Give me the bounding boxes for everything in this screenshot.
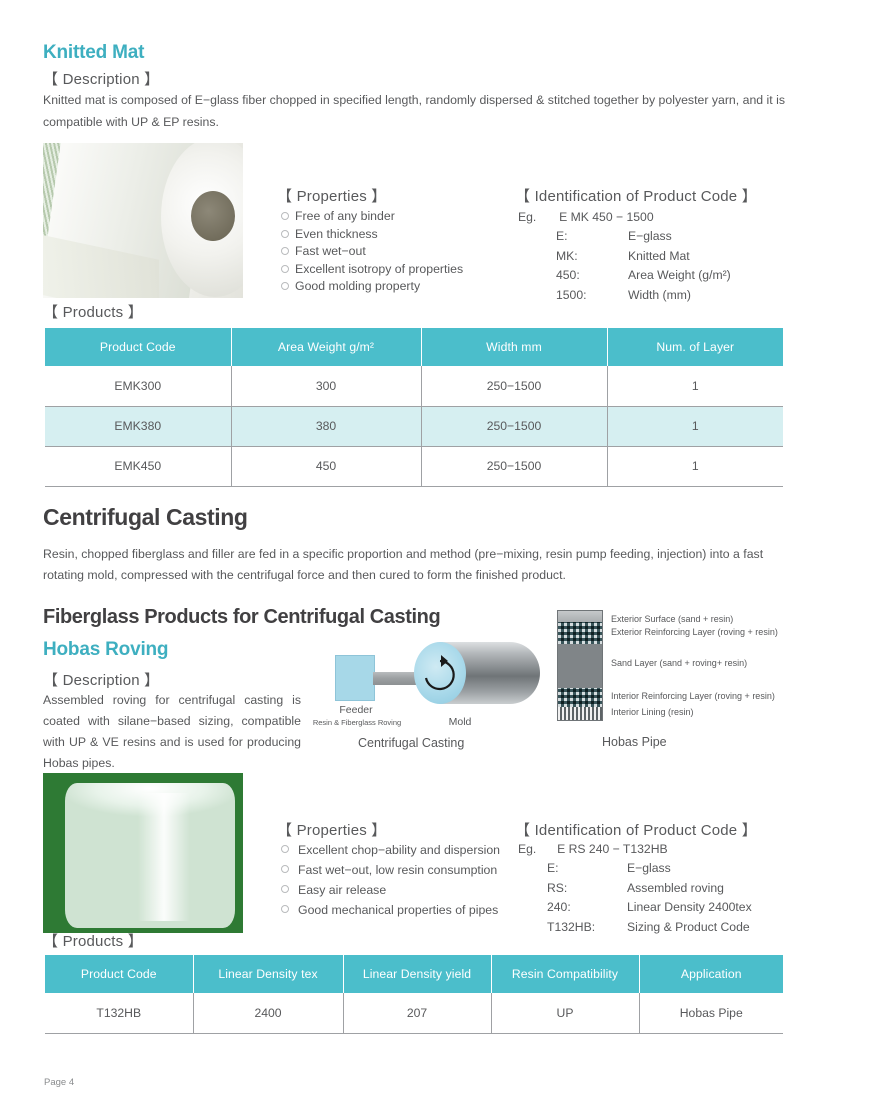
description-text-2: Assembled roving for centrifugal casting…: [43, 690, 301, 774]
pipe-layer-stack: [557, 610, 603, 721]
document-page: Knitted Mat 【 Description 】 Knitted mat …: [0, 0, 870, 1120]
cell-product-code: T132HB: [45, 993, 193, 1033]
cell-area-weight: 450: [231, 446, 421, 486]
layer-interior-reinforcing-icon: [558, 688, 602, 707]
bullet-icon: [281, 282, 289, 290]
identification-value: Assembled roving: [627, 879, 752, 899]
property-item: Good molding property: [281, 278, 463, 296]
identification-key: 240:: [547, 898, 627, 918]
identification-value: E−glass: [627, 859, 752, 879]
cell-width: 250−1500: [421, 446, 607, 486]
cell-application: Hobas Pipe: [639, 993, 783, 1033]
cell-num-layer: 1: [607, 446, 783, 486]
identification-example-1: Eg. E MK 450 − 1500: [518, 208, 654, 228]
table-row: EMK300 300 250−1500 1: [45, 366, 783, 406]
table-row: T132HB 2400 207 UP Hobas Pipe: [45, 993, 783, 1033]
identification-key: RS:: [547, 879, 627, 899]
products-label-1: 【 Products 】: [43, 301, 143, 322]
property-item: Excellent isotropy of properties: [281, 261, 463, 279]
identification-key: T132HB:: [547, 918, 627, 938]
products-table-1-wrap: Product Code Area Weight g/m² Width mm N…: [45, 328, 783, 487]
products-table-1: Product Code Area Weight g/m² Width mm N…: [45, 328, 783, 487]
bullet-icon: [281, 905, 289, 913]
identification-label-2: 【 Identification of Product Code 】: [515, 819, 757, 840]
identification-value: Width (mm): [628, 286, 731, 306]
properties-label-2: 【 Properties 】: [277, 819, 387, 840]
section-title-knitted-mat: Knitted Mat: [43, 42, 144, 64]
cell-product-code: EMK450: [45, 446, 231, 486]
pipe-layer-label: Exterior Reinforcing Layer (roving + res…: [611, 627, 778, 637]
cell-area-weight: 300: [231, 366, 421, 406]
col-width: Width mm: [421, 328, 607, 366]
cell-resin-compatibility: UP: [491, 993, 639, 1033]
pipe-layer-label: Interior Lining (resin): [611, 707, 694, 717]
pipe-layer-label: Exterior Surface (sand + resin): [611, 614, 733, 624]
table-header-row: Product Code Linear Density tex Linear D…: [45, 955, 783, 993]
table-row: EMK450 450 250−1500 1: [45, 446, 783, 486]
products-table-2-wrap: Product Code Linear Density tex Linear D…: [45, 955, 783, 1034]
col-application: Application: [639, 955, 783, 993]
col-area-weight: Area Weight g/m²: [231, 328, 421, 366]
hobas-roving-photo: [43, 773, 243, 933]
feeder-sub-label: Resin & Fiberglass Roving: [302, 718, 412, 727]
properties-list-2: Excellent chop−ability and dispersion Fa…: [281, 840, 500, 920]
cell-area-weight: 380: [231, 406, 421, 446]
identification-value: Linear Density 2400tex: [627, 898, 752, 918]
col-product-code: Product Code: [45, 328, 231, 366]
property-item: Excellent chop−ability and dispersion: [281, 840, 500, 860]
cell-linear-density-yield: 207: [343, 993, 491, 1033]
identification-key: 1500:: [556, 286, 628, 306]
identification-table-1: E: E−glass MK: Knitted Mat 450: Area Wei…: [556, 227, 731, 305]
mold-label: Mold: [430, 716, 490, 728]
pipe-layer-label: Sand Layer (sand + roving+ resin): [611, 658, 747, 668]
description-label-2: 【 Description 】: [43, 669, 159, 690]
section-subtitle-fiberglass-products: Fiberglass Products for Centrifugal Cast…: [43, 606, 440, 629]
properties-list-1: Free of any binder Even thickness Fast w…: [281, 208, 463, 296]
properties-label-1: 【 Properties 】: [277, 185, 387, 206]
centrifugal-casting-diagram: Feeder Resin & Fiberglass Roving Mold Ce…: [330, 628, 520, 753]
identification-eg-value: E RS 240 − T132HB: [557, 842, 668, 856]
layer-interior-lining-icon: [558, 707, 602, 720]
bullet-icon: [281, 865, 289, 873]
description-label-1: 【 Description 】: [43, 68, 159, 89]
identification-table-2: E: E−glass RS: Assembled roving 240: Lin…: [547, 859, 752, 937]
identification-value: Knitted Mat: [628, 247, 731, 267]
section-title-centrifugal-casting: Centrifugal Casting: [43, 504, 248, 531]
bullet-icon: [281, 212, 289, 220]
cell-num-layer: 1: [607, 406, 783, 446]
layer-exterior-reinforcing-icon: [558, 622, 602, 644]
section-title-hobas-roving: Hobas Roving: [43, 639, 168, 661]
identification-eg-value: E MK 450 − 1500: [559, 210, 654, 224]
cell-width: 250−1500: [421, 366, 607, 406]
cell-num-layer: 1: [607, 366, 783, 406]
property-item: Fast wet−out: [281, 243, 463, 261]
layer-exterior-surface-icon: [558, 611, 602, 622]
rotation-arrow-icon: [416, 648, 466, 698]
page-number: Page 4: [44, 1077, 74, 1088]
identification-label-1: 【 Identification of Product Code 】: [515, 185, 757, 206]
feeder-box-icon: [335, 655, 375, 701]
identification-eg-key: Eg.: [518, 210, 536, 224]
col-num-layer: Num. of Layer: [607, 328, 783, 366]
property-item: Even thickness: [281, 226, 463, 244]
col-linear-density-tex: Linear Density tex: [193, 955, 343, 993]
cell-product-code: EMK380: [45, 406, 231, 446]
feeder-label: Feeder: [328, 704, 384, 716]
identification-key: E:: [547, 859, 627, 879]
layer-sand-icon: [558, 644, 602, 688]
identification-example-2: Eg. E RS 240 − T132HB: [518, 840, 668, 860]
products-label-2: 【 Products 】: [43, 930, 143, 951]
property-item: Fast wet−out, low resin consumption: [281, 860, 500, 880]
table-header-row: Product Code Area Weight g/m² Width mm N…: [45, 328, 783, 366]
knitted-mat-photo: [43, 143, 243, 298]
cell-product-code: EMK300: [45, 366, 231, 406]
col-product-code: Product Code: [45, 955, 193, 993]
identification-eg-key: Eg.: [518, 842, 536, 856]
identification-value: E−glass: [628, 227, 731, 247]
identification-key: MK:: [556, 247, 628, 267]
property-item: Easy air release: [281, 880, 500, 900]
cell-linear-density-tex: 2400: [193, 993, 343, 1033]
bullet-icon: [281, 885, 289, 893]
bullet-icon: [281, 247, 289, 255]
bullet-icon: [281, 230, 289, 238]
cell-width: 250−1500: [421, 406, 607, 446]
pipe-layer-label: Interior Reinforcing Layer (roving + res…: [611, 691, 775, 701]
property-item: Good mechanical properties of pipes: [281, 900, 500, 920]
table-row: EMK380 380 250−1500 1: [45, 406, 783, 446]
identification-key: 450:: [556, 266, 628, 286]
identification-value: Sizing & Product Code: [627, 918, 752, 938]
bullet-icon: [281, 845, 289, 853]
col-linear-density-yield: Linear Density yield: [343, 955, 491, 993]
centrifugal-casting-description: Resin, chopped fiberglass and filler are…: [43, 544, 791, 586]
identification-key: E:: [556, 227, 628, 247]
property-item: Free of any binder: [281, 208, 463, 226]
hobas-pipe-caption: Hobas Pipe: [602, 735, 667, 749]
identification-value: Area Weight (g/m²): [628, 266, 731, 286]
centrifugal-casting-caption: Centrifugal Casting: [358, 736, 464, 750]
description-text-1: Knitted mat is composed of E−glass fiber…: [43, 89, 785, 133]
col-resin-compatibility: Resin Compatibility: [491, 955, 639, 993]
bullet-icon: [281, 265, 289, 273]
products-table-2: Product Code Linear Density tex Linear D…: [45, 955, 783, 1034]
